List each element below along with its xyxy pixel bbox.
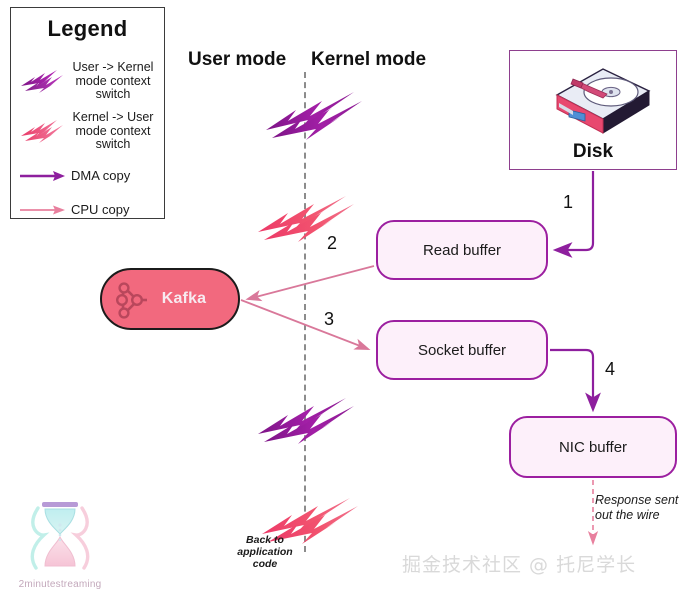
kafka-node: Kafka: [100, 268, 240, 330]
legend-item-label: User -> Kernel mode context switch: [67, 61, 159, 102]
legend-title: Legend: [11, 16, 164, 42]
diagram-canvas: Legend User -> Kernel mode context switc…: [0, 0, 700, 600]
mode-divider-line: [304, 72, 306, 552]
legend-item-label: DMA copy: [67, 169, 159, 183]
kernel-mode-header: Kernel mode: [311, 49, 426, 71]
purple-lightning-icon: [258, 398, 354, 444]
hourglass-icon: [14, 492, 106, 578]
step-number-2: 2: [327, 233, 337, 254]
step-number-3: 3: [324, 309, 334, 330]
arrow-disk-to-read-buffer: [556, 171, 593, 250]
legend-item-user-to-kernel: User -> Kernel mode context switch: [19, 61, 159, 102]
pink-lightning-icon: [19, 114, 67, 148]
kafka-logo-icon: [114, 279, 158, 328]
purple-arrow-icon: [19, 166, 67, 186]
legend-item-kernel-to-user: Kernel -> User mode context switch: [19, 111, 159, 152]
arrow-socket-buffer-to-nic-buffer: [550, 350, 593, 409]
read-buffer-node: Read buffer: [376, 220, 548, 280]
pink-arrow-icon: [19, 200, 67, 220]
socket-buffer-node: Socket buffer: [376, 320, 548, 380]
purple-lightning-icon: [19, 64, 67, 98]
response-sent-annotation: Response sent out the wire: [595, 493, 685, 523]
hard-disk-icon: [533, 61, 653, 142]
nic-buffer-label: NIC buffer: [559, 439, 627, 456]
brand-logo: 2minutestreaming: [14, 492, 106, 592]
disk-label: Disk: [510, 141, 676, 163]
brand-name: 2minutestreaming: [14, 579, 106, 590]
legend-panel: Legend User -> Kernel mode context switc…: [10, 7, 165, 219]
arrow-read-buffer-to-kafka: [248, 266, 374, 299]
socket-buffer-label: Socket buffer: [418, 342, 506, 359]
back-to-application-annotation: Back to application code: [224, 534, 306, 570]
pink-lightning-icon: [258, 196, 354, 242]
step-number-1: 1: [563, 192, 573, 213]
kafka-label: Kafka: [162, 290, 207, 308]
user-mode-header: User mode: [188, 49, 286, 71]
legend-item-label: Kernel -> User mode context switch: [67, 111, 159, 152]
nic-buffer-node: NIC buffer: [509, 416, 677, 478]
legend-item-label: CPU copy: [67, 203, 159, 217]
watermark-text: 掘金技术社区 @ 托尼学长: [402, 550, 636, 577]
legend-item-dma-copy: DMA copy: [19, 166, 159, 186]
read-buffer-label: Read buffer: [423, 242, 501, 259]
disk-node: Disk: [509, 50, 677, 170]
step-number-4: 4: [605, 359, 615, 380]
purple-lightning-icon: [266, 92, 362, 140]
legend-item-cpu-copy: CPU copy: [19, 200, 159, 220]
